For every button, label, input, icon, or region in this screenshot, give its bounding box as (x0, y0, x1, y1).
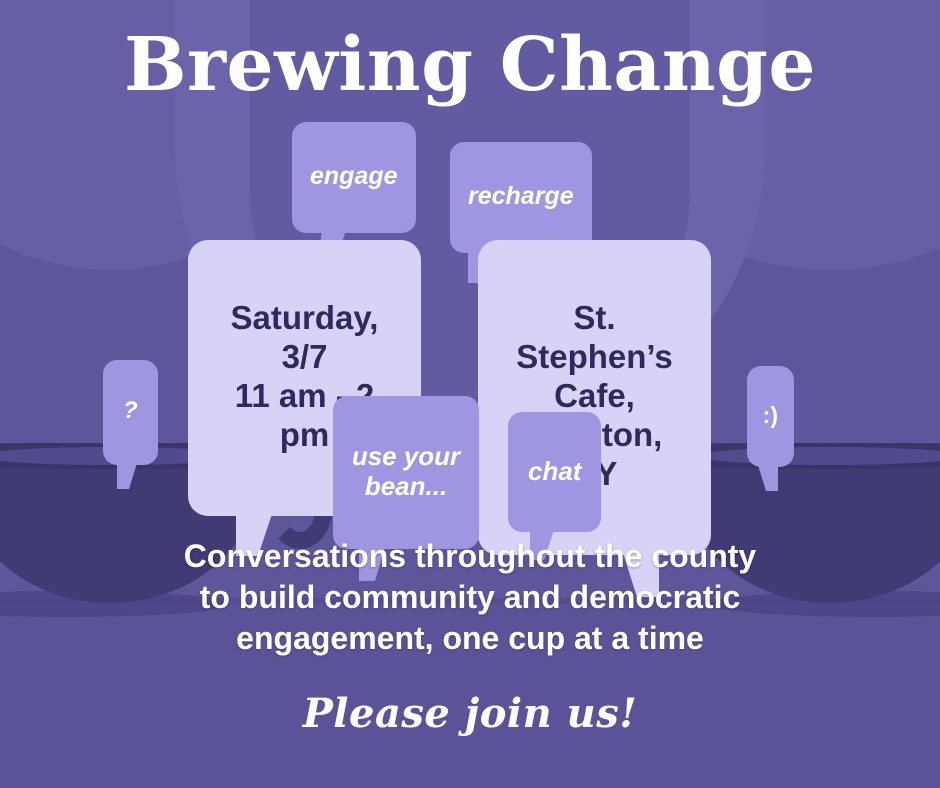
poster-tagline: Conversations throughout the county to b… (0, 536, 940, 659)
speech-bubble-smiley: :) (747, 366, 794, 467)
speech-bubble-question-label: ? (123, 397, 138, 424)
speech-bubble-chat: chat (508, 412, 601, 532)
speech-bubble-question: ? (103, 360, 158, 465)
speech-bubble-engage-label: engage (310, 162, 398, 190)
speech-bubble-recharge-label: recharge (468, 182, 574, 210)
speech-bubble-chat-label: chat (528, 456, 581, 486)
poster-title: Brewing Change (0, 22, 940, 108)
speech-bubble-bean-label: use your bean... (352, 441, 460, 502)
speech-bubble-tail (758, 465, 778, 491)
speech-bubble-engage: engage (292, 122, 416, 233)
speech-bubble-recharge: recharge (450, 142, 592, 253)
poster-call-to-action: Please join us! (0, 690, 940, 737)
speech-bubble-use-your-bean: use your bean... (333, 396, 479, 549)
speech-bubble-smiley-label: :) (763, 402, 778, 428)
poster-canvas: Brewing Change engage recharge ? :) Satu… (0, 0, 940, 788)
speech-bubble-tail (117, 463, 137, 489)
